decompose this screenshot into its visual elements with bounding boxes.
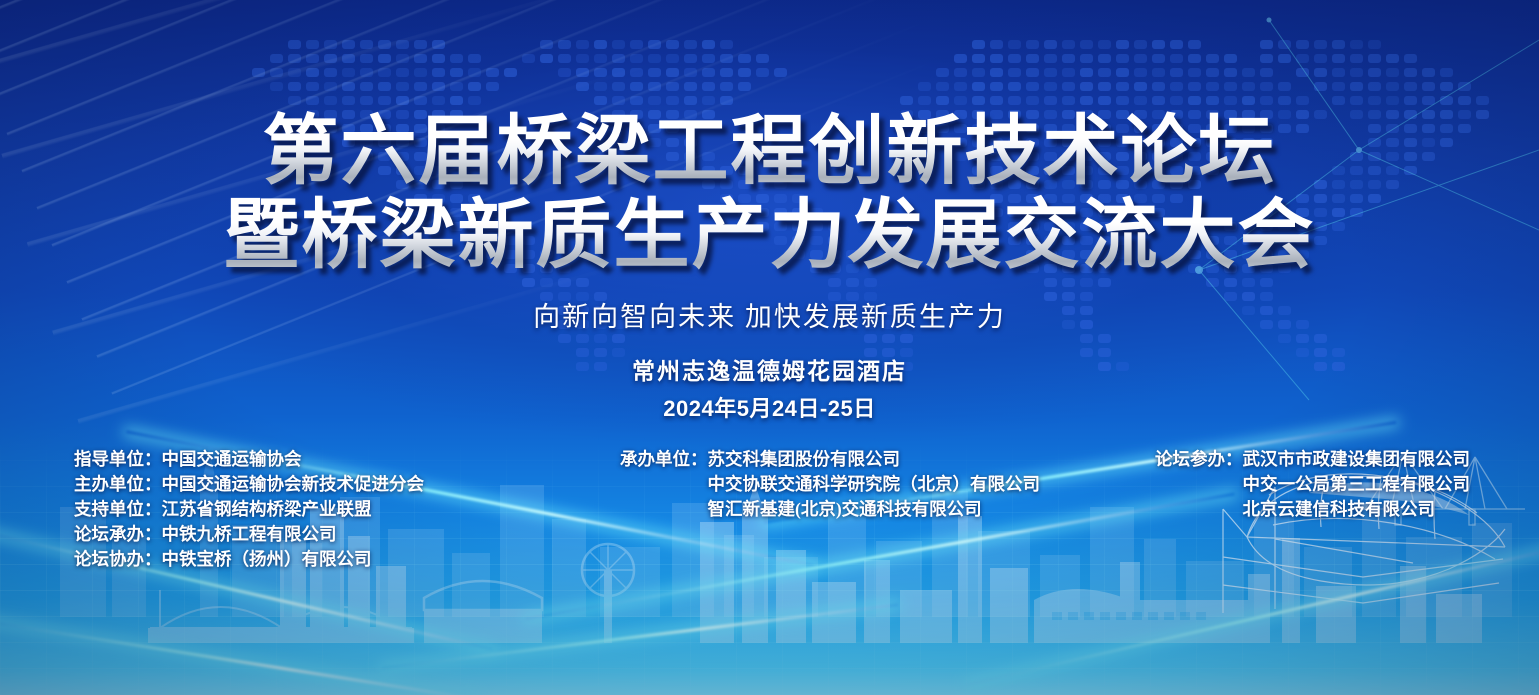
credits-column-left: 指导单位：中国交通运输协会主办单位：中国交通运输协会新技术促进分会支持单位：江苏… [74,447,424,572]
credit-value: 智汇新基建(北京)交通科技有限公司 [708,497,1041,522]
credit-values: 中铁九桥工程有限公司 [162,522,337,547]
credit-row: 承办单位：苏交科集团股份有限公司中交协联交通科学研究院（北京）有限公司智汇新基建… [620,447,1040,522]
conference-banner: 第六届桥梁工程创新技术论坛 暨桥梁新质生产力发展交流大会 向新向智向未来 加快发… [0,0,1539,695]
credit-row: 论坛参办：武汉市市政建设集团有限公司中交一公局第三工程有限公司北京云建信科技有限… [1155,447,1470,522]
credit-label: 主办单位： [74,472,162,497]
credit-value: 中交协联交通科学研究院（北京）有限公司 [708,472,1041,497]
credit-row: 论坛协办：中铁宝桥（扬州）有限公司 [74,547,424,572]
credit-row: 指导单位：中国交通运输协会 [74,447,424,472]
credit-row: 支持单位：江苏省钢结构桥梁产业联盟 [74,497,424,522]
venue-date: 2024年5月24日-25日 [0,391,1539,423]
title-line-1: 第六届桥梁工程创新技术论坛 [0,110,1539,194]
credit-value: 江苏省钢结构桥梁产业联盟 [162,497,372,522]
credit-value: 中国交通运输协会 [162,447,302,472]
credit-label: 论坛协办： [74,547,162,572]
credit-label: 承办单位： [620,447,708,522]
credit-row: 论坛承办：中铁九桥工程有限公司 [74,522,424,547]
venue-info: 常州志逸温德姆花园酒店 2024年5月24日-25日 [0,352,1539,423]
event-subtitle: 向新向智向未来 加快发展新质生产力 [0,295,1539,334]
venue-name: 常州志逸温德姆花园酒店 [0,352,1539,386]
credit-label: 指导单位： [74,447,162,472]
credit-value: 武汉市市政建设集团有限公司 [1243,447,1471,472]
credit-value: 中铁九桥工程有限公司 [162,522,337,547]
credit-values: 中国交通运输协会新技术促进分会 [162,472,425,497]
credit-values: 江苏省钢结构桥梁产业联盟 [162,497,372,522]
credit-label: 支持单位： [74,497,162,522]
credit-value: 中交一公局第三工程有限公司 [1243,472,1471,497]
credit-value: 中铁宝桥（扬州）有限公司 [162,547,372,572]
credit-values: 武汉市市政建设集团有限公司中交一公局第三工程有限公司北京云建信科技有限公司 [1243,447,1471,522]
credit-values: 中国交通运输协会 [162,447,302,472]
credit-values: 苏交科集团股份有限公司中交协联交通科学研究院（北京）有限公司智汇新基建(北京)交… [708,447,1041,522]
credits-column-right: 论坛参办：武汉市市政建设集团有限公司中交一公局第三工程有限公司北京云建信科技有限… [1155,447,1470,522]
event-title: 第六届桥梁工程创新技术论坛 暨桥梁新质生产力发展交流大会 [0,110,1539,278]
credit-label: 论坛参办： [1155,447,1243,522]
credit-label: 论坛承办： [74,522,162,547]
credit-value: 北京云建信科技有限公司 [1243,497,1471,522]
title-line-2: 暨桥梁新质生产力发展交流大会 [0,194,1539,278]
banner-content: 第六届桥梁工程创新技术论坛 暨桥梁新质生产力发展交流大会 向新向智向未来 加快发… [0,0,1539,695]
credit-row: 主办单位：中国交通运输协会新技术促进分会 [74,472,424,497]
credits-column-middle: 承办单位：苏交科集团股份有限公司中交协联交通科学研究院（北京）有限公司智汇新基建… [620,447,1040,522]
credit-values: 中铁宝桥（扬州）有限公司 [162,547,372,572]
credit-value: 苏交科集团股份有限公司 [708,447,1041,472]
credit-value: 中国交通运输协会新技术促进分会 [162,472,425,497]
